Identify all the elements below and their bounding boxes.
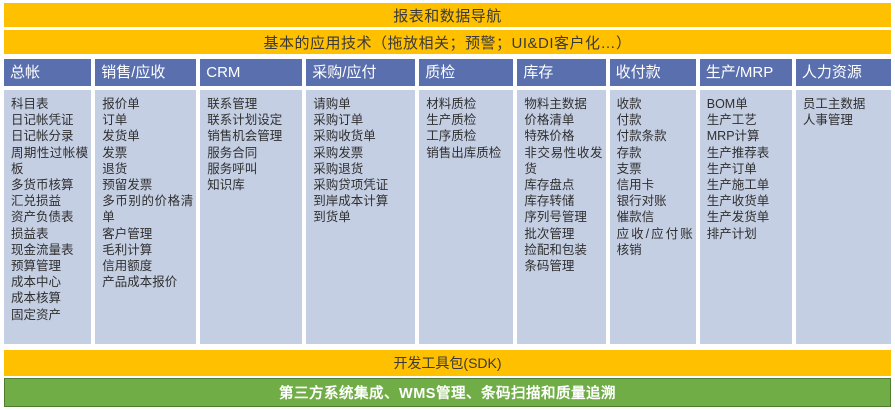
list-item[interactable]: 付款条款	[617, 128, 693, 144]
list-item[interactable]: 生产质检	[426, 112, 510, 128]
list-item[interactable]: 知识库	[207, 177, 299, 193]
module-column-general-ledger: 总帐 科目表 日记帐凭证 日记帐分录 周期性过帐模板 多货币核算 汇兑损益 资产…	[4, 59, 91, 344]
list-item[interactable]: 报价单	[102, 96, 193, 112]
module-column-human-resources: 人力资源 员工主数据 人事管理	[796, 59, 891, 344]
module-column-crm: CRM 联系管理 联系计划设定 销售机会管理 服务合同 服务呼叫 知识库	[200, 59, 302, 344]
column-header-sales-ar[interactable]: 销售/应收	[95, 59, 196, 86]
list-item[interactable]: 条码管理	[524, 258, 602, 274]
list-item[interactable]: 联系计划设定	[207, 112, 299, 128]
list-item[interactable]: 信用额度	[102, 258, 193, 274]
module-columns: 总帐 科目表 日记帐凭证 日记帐分录 周期性过帐模板 多货币核算 汇兑损益 资产…	[4, 59, 891, 344]
module-column-production-mrp: 生产/MRP BOM单 生产工艺 MRP计算 生产推荐表 生产订单 生产施工单 …	[700, 59, 792, 344]
list-item[interactable]: 生产发货单	[707, 209, 789, 225]
list-item[interactable]: 采购退货	[313, 161, 412, 177]
module-column-purchasing-ap: 采购/应付 请购单 采购订单 采购收货单 采购发票 采购退货 采购贷项凭证 到岸…	[306, 59, 415, 344]
list-item[interactable]: 生产施工单	[707, 177, 789, 193]
module-column-sales-ar: 销售/应收 报价单 订单 发货单 发票 退货 预留发票 多币别的价格清单 客户管…	[95, 59, 196, 344]
list-item[interactable]: 发票	[102, 145, 193, 161]
sdk-banner: 开发工具包(SDK)	[4, 350, 891, 376]
list-item[interactable]: 固定资产	[11, 307, 88, 323]
list-item[interactable]: 毛利计算	[102, 242, 193, 258]
list-item[interactable]: 到货单	[313, 209, 412, 225]
list-item[interactable]: 客户管理	[102, 226, 193, 242]
column-header-general-ledger[interactable]: 总帐	[4, 59, 91, 86]
list-item[interactable]: 成本中心	[11, 274, 88, 290]
list-item[interactable]: 生产收货单	[707, 193, 789, 209]
list-item[interactable]: 日记帐凭证	[11, 112, 88, 128]
list-item[interactable]: 现金流量表	[11, 242, 88, 258]
list-item[interactable]: 批次管理	[524, 226, 602, 242]
module-column-inventory: 库存 物料主数据 价格清单 特殊价格 非交易性收发货 库存盘点 库存转储 序列号…	[517, 59, 605, 344]
list-item[interactable]: 日记帐分录	[11, 128, 88, 144]
list-item[interactable]: 销售出库质检	[426, 145, 510, 161]
page-title-banner: 报表和数据导航	[4, 3, 891, 27]
column-items-inventory: 物料主数据 价格清单 特殊价格 非交易性收发货 库存盘点 库存转储 序列号管理 …	[517, 90, 605, 344]
list-item[interactable]: 收款	[617, 96, 693, 112]
list-item[interactable]: 损益表	[11, 226, 88, 242]
list-item[interactable]: 订单	[102, 112, 193, 128]
list-item[interactable]: 多货币核算	[11, 177, 88, 193]
list-item[interactable]: 预留发票	[102, 177, 193, 193]
column-header-quality-control[interactable]: 质检	[419, 59, 513, 86]
column-items-banking: 收款 付款 付款条款 存款 支票 信用卡 银行对账 催款信 应收/应付账核销	[610, 90, 696, 344]
list-item[interactable]: 生产工艺	[707, 112, 789, 128]
list-item[interactable]: 工序质检	[426, 128, 510, 144]
integration-banner: 第三方系统集成、WMS管理、条码扫描和质量追溯	[4, 378, 891, 407]
column-header-crm[interactable]: CRM	[200, 59, 302, 86]
column-items-crm: 联系管理 联系计划设定 销售机会管理 服务合同 服务呼叫 知识库	[200, 90, 302, 344]
list-item[interactable]: 信用卡	[617, 177, 693, 193]
module-column-banking: 收付款 收款 付款 付款条款 存款 支票 信用卡 银行对账 催款信 应收/应付账…	[610, 59, 696, 344]
list-item[interactable]: 生产推荐表	[707, 145, 789, 161]
list-item[interactable]: 联系管理	[207, 96, 299, 112]
column-items-human-resources: 员工主数据 人事管理	[796, 90, 891, 344]
list-item[interactable]: 多币别的价格清单	[102, 193, 193, 225]
list-item[interactable]: 排产计划	[707, 226, 789, 242]
list-item[interactable]: 发货单	[102, 128, 193, 144]
list-item[interactable]: 采购订单	[313, 112, 412, 128]
column-items-production-mrp: BOM单 生产工艺 MRP计算 生产推荐表 生产订单 生产施工单 生产收货单 生…	[700, 90, 792, 344]
list-item[interactable]: 序列号管理	[524, 209, 602, 225]
list-item[interactable]: 价格清单	[524, 112, 602, 128]
list-item[interactable]: 销售机会管理	[207, 128, 299, 144]
list-item[interactable]: 捡配和包装	[524, 242, 602, 258]
list-item[interactable]: MRP计算	[707, 128, 789, 144]
module-column-quality-control: 质检 材料质检 生产质检 工序质检 销售出库质检	[419, 59, 513, 344]
list-item[interactable]: 采购收货单	[313, 128, 412, 144]
list-item[interactable]: 预算管理	[11, 258, 88, 274]
column-items-quality-control: 材料质检 生产质检 工序质检 销售出库质检	[419, 90, 513, 344]
list-item[interactable]: 科目表	[11, 96, 88, 112]
list-item[interactable]: 服务合同	[207, 145, 299, 161]
column-header-banking[interactable]: 收付款	[610, 59, 696, 86]
column-header-production-mrp[interactable]: 生产/MRP	[700, 59, 792, 86]
column-header-purchasing-ap[interactable]: 采购/应付	[306, 59, 415, 86]
column-items-sales-ar: 报价单 订单 发货单 发票 退货 预留发票 多币别的价格清单 客户管理 毛利计算…	[95, 90, 196, 344]
list-item[interactable]: 库存盘点	[524, 177, 602, 193]
subtitle-banner: 基本的应用技术（拖放相关；预警；UI&DI客户化…）	[4, 30, 891, 54]
list-item[interactable]: 付款	[617, 112, 693, 128]
list-item[interactable]: 资产负债表	[11, 209, 88, 225]
erp-module-navigation-page: 报表和数据导航 基本的应用技术（拖放相关；预警；UI&DI客户化…） 总帐 科目…	[0, 0, 895, 410]
list-item[interactable]: 催款信	[617, 209, 693, 225]
list-item[interactable]: 支票	[617, 161, 693, 177]
list-item[interactable]: 银行对账	[617, 193, 693, 209]
list-item[interactable]: 应收/应付账核销	[617, 226, 693, 258]
list-item[interactable]: BOM单	[707, 96, 789, 112]
list-item[interactable]: 产品成本报价	[102, 274, 193, 290]
list-item[interactable]: 服务呼叫	[207, 161, 299, 177]
list-item[interactable]: 库存转储	[524, 193, 602, 209]
list-item[interactable]: 非交易性收发货	[524, 145, 602, 177]
list-item[interactable]: 成本核算	[11, 290, 88, 306]
list-item[interactable]: 生产订单	[707, 161, 789, 177]
list-item[interactable]: 周期性过帐模板	[11, 145, 88, 177]
list-item[interactable]: 特殊价格	[524, 128, 602, 144]
list-item[interactable]: 采购发票	[313, 145, 412, 161]
list-item[interactable]: 请购单	[313, 96, 412, 112]
column-header-human-resources[interactable]: 人力资源	[796, 59, 891, 86]
list-item[interactable]: 材料质检	[426, 96, 510, 112]
list-item[interactable]: 到岸成本计算	[313, 193, 412, 209]
list-item[interactable]: 汇兑损益	[11, 193, 88, 209]
column-header-inventory[interactable]: 库存	[517, 59, 605, 86]
column-items-purchasing-ap: 请购单 采购订单 采购收货单 采购发票 采购退货 采购贷项凭证 到岸成本计算 到…	[306, 90, 415, 344]
column-items-general-ledger: 科目表 日记帐凭证 日记帐分录 周期性过帐模板 多货币核算 汇兑损益 资产负债表…	[4, 90, 91, 344]
list-item[interactable]: 人事管理	[803, 112, 888, 128]
list-item[interactable]: 采购贷项凭证	[313, 177, 412, 193]
list-item[interactable]: 存款	[617, 145, 693, 161]
list-item[interactable]: 员工主数据	[803, 96, 888, 112]
list-item[interactable]: 退货	[102, 161, 193, 177]
list-item[interactable]: 物料主数据	[524, 96, 602, 112]
